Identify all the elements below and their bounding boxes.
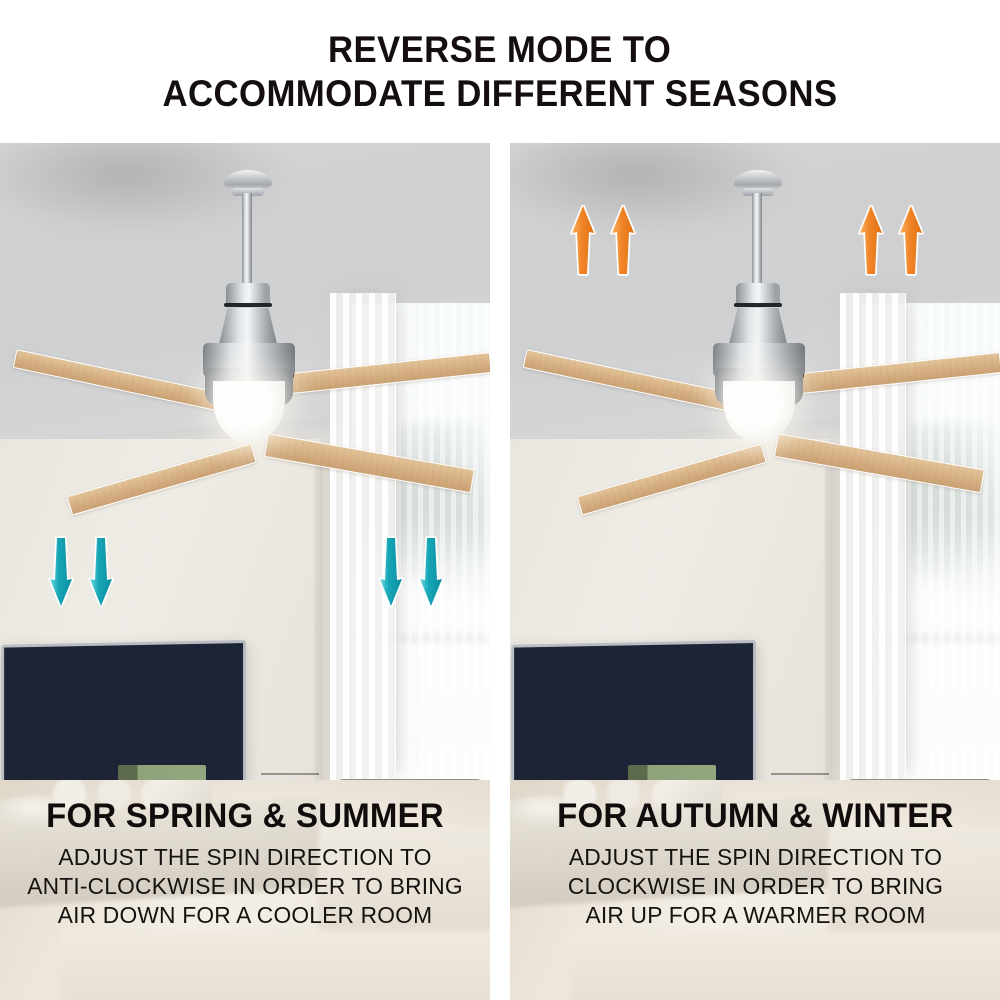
room-photo-right <box>510 143 1000 780</box>
arrow-up-icon <box>570 205 596 277</box>
panel-divider <box>490 143 510 1000</box>
caption-heading: FOR SPRING & SUMMER <box>46 796 444 836</box>
caption-body: ADJUST THE SPIN DIRECTION TO ANTI-CLOCKW… <box>27 843 463 930</box>
arrow-down-icon <box>418 535 444 607</box>
fan-blade <box>271 352 490 396</box>
arrow-up-icon <box>898 205 924 277</box>
caption-body-line: ANTI-CLOCKWISE IN ORDER TO BRING <box>27 872 463 901</box>
caption-spring-summer: FOR SPRING & SUMMER ADJUST THE SPIN DIRE… <box>0 780 490 1000</box>
fan-accent-band <box>734 303 782 307</box>
fan-blade <box>13 349 224 412</box>
fan-motor-housing <box>218 308 278 348</box>
fan-blade <box>67 443 257 515</box>
infographic-stage: REVERSE MODE TO ACCOMMODATE DIFFERENT SE… <box>0 0 1000 1000</box>
fan-motor-top <box>226 283 270 305</box>
fan-motor-top <box>736 283 780 305</box>
arrow-down-icon <box>378 535 404 607</box>
fan-blade <box>523 349 734 412</box>
arrow-up-icon <box>858 205 884 277</box>
fan-downrod <box>752 193 762 288</box>
fan-motor-housing <box>728 308 788 348</box>
caption-body: ADJUST THE SPIN DIRECTION TO CLOCKWISE I… <box>567 843 942 930</box>
caption-autumn-winter: FOR AUTUMN & WINTER ADJUST THE SPIN DIRE… <box>510 780 1000 1000</box>
room-photo-left <box>0 143 490 780</box>
caption-heading: FOR AUTUMN & WINTER <box>557 796 953 836</box>
panel-autumn-winter: FOR AUTUMN & WINTER ADJUST THE SPIN DIRE… <box>510 143 1000 1000</box>
header-title-block: REVERSE MODE TO ACCOMMODATE DIFFERENT SE… <box>0 0 1000 143</box>
fan-blade <box>577 443 767 515</box>
arrow-up-icon <box>610 205 636 277</box>
panel-spring-summer: FOR SPRING & SUMMER ADJUST THE SPIN DIRE… <box>0 143 490 1000</box>
fan-blade <box>774 433 985 493</box>
fan-downrod <box>242 193 252 288</box>
title-line-1: REVERSE MODE TO <box>328 28 671 72</box>
arrow-down-icon <box>48 535 74 607</box>
caption-body-line: ADJUST THE SPIN DIRECTION TO <box>567 843 942 872</box>
fan-blade <box>781 352 1000 396</box>
fan-accent-band <box>224 303 272 307</box>
caption-body-line: AIR DOWN FOR A COOLER ROOM <box>27 901 463 930</box>
ceiling-fan-left <box>0 143 490 780</box>
caption-body-line: CLOCKWISE IN ORDER TO BRING <box>567 872 942 901</box>
caption-body-line: AIR UP FOR A WARMER ROOM <box>567 901 942 930</box>
fan-blade <box>264 433 475 493</box>
title-line-2: ACCOMMODATE DIFFERENT SEASONS <box>163 72 838 116</box>
arrow-down-icon <box>88 535 114 607</box>
caption-body-line: ADJUST THE SPIN DIRECTION TO <box>27 843 463 872</box>
